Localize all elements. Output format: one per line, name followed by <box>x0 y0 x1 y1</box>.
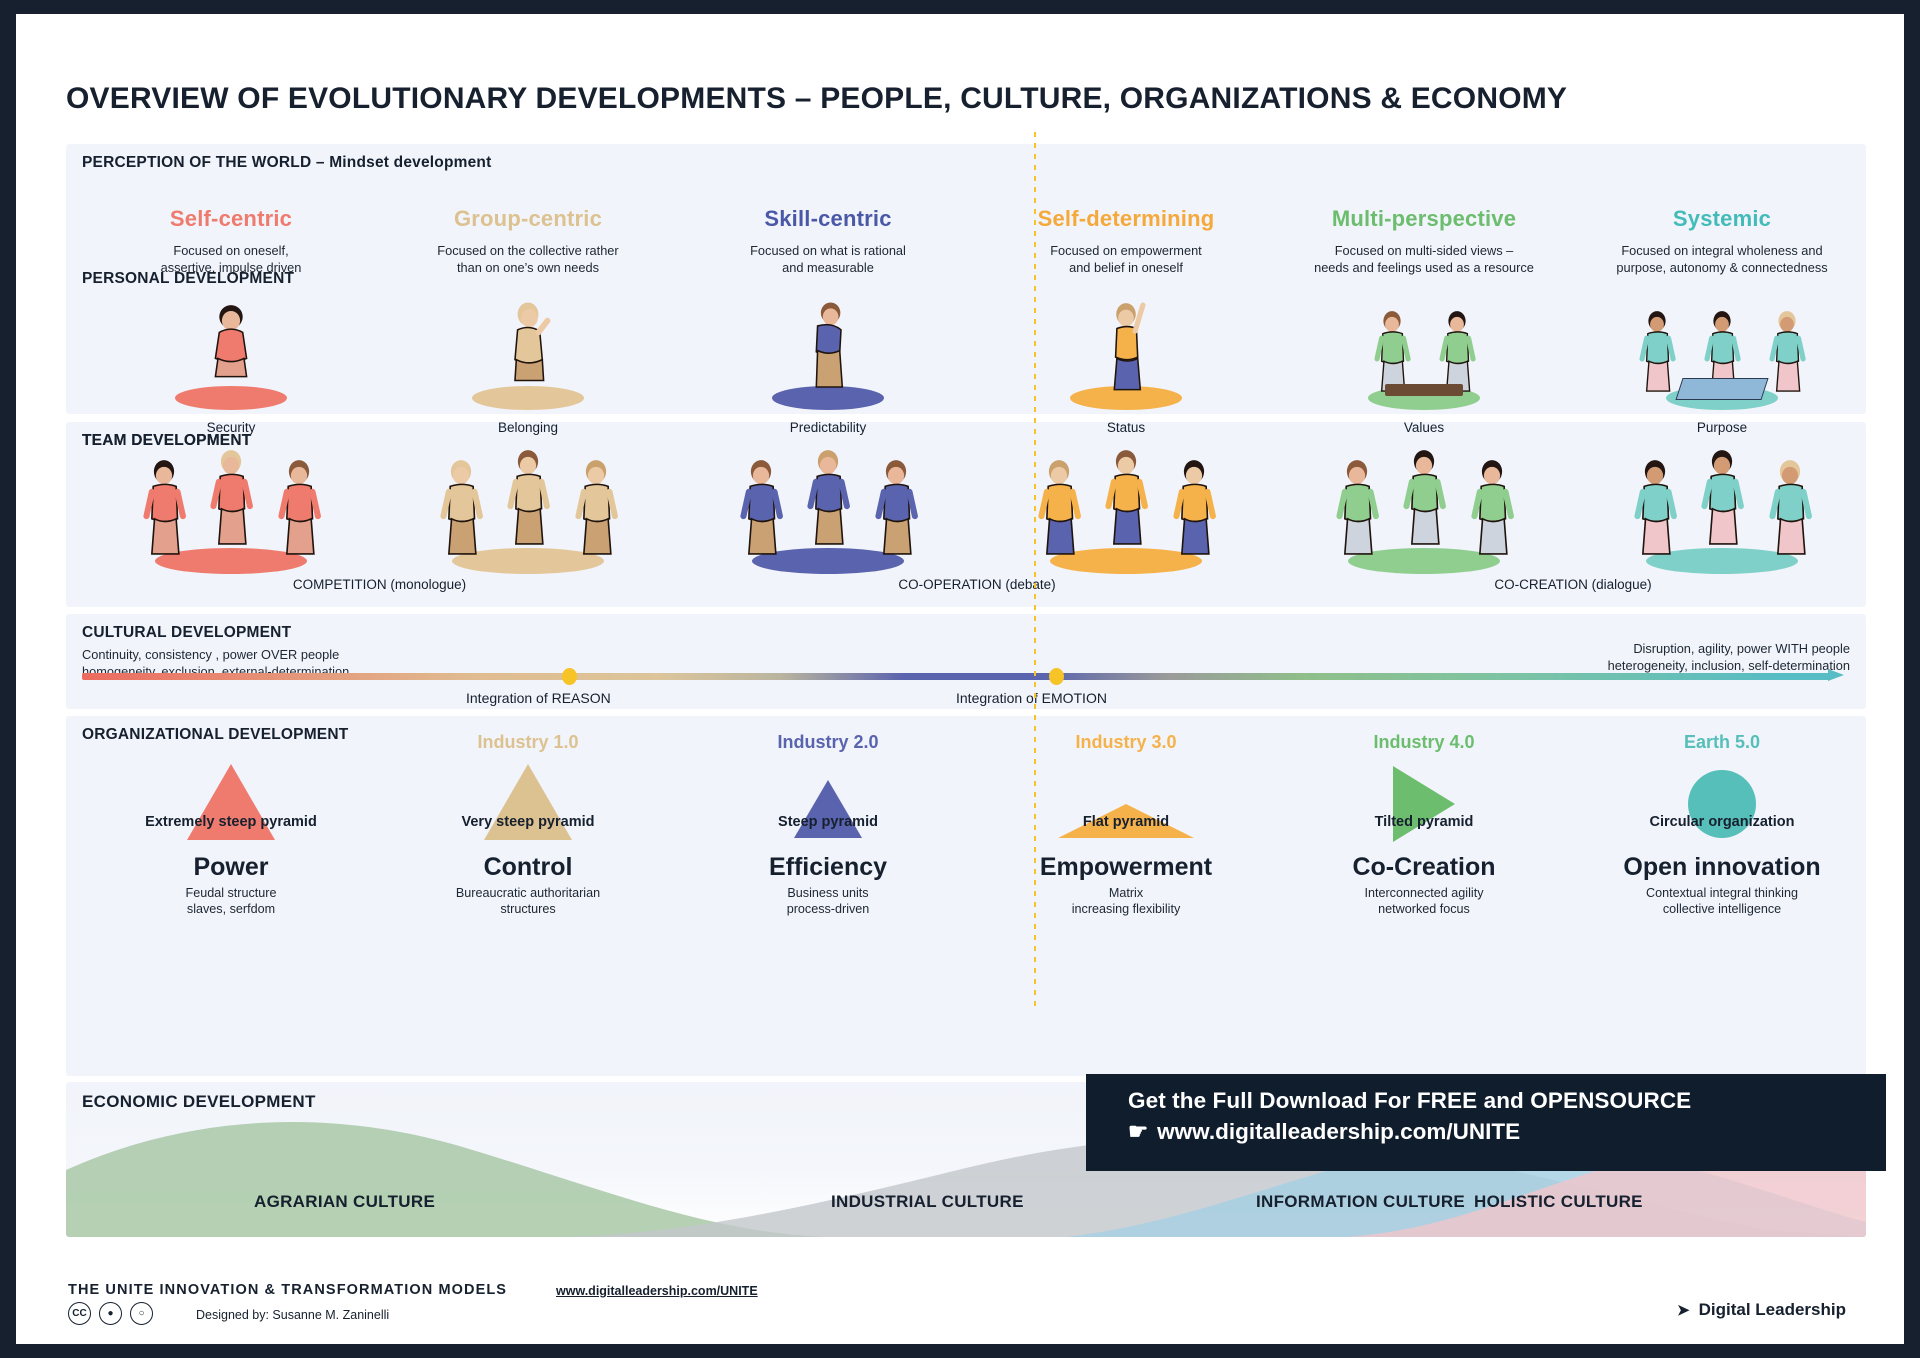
mindset-column-5: SystemicFocused on integral wholeness an… <box>1597 206 1847 277</box>
org-shape-wrapper: Extremely steep pyramid <box>106 762 356 846</box>
org-industry-label: Industry 3.0 <box>1001 732 1251 756</box>
team-cluster-0 <box>106 446 356 574</box>
cc-by-icon: ● <box>99 1302 122 1325</box>
era-divider-dotted-line <box>1034 132 1036 1012</box>
personal-caption: Belonging <box>403 420 653 435</box>
personal-item-2: Predictability <box>703 292 953 435</box>
mindset-column-4: Multi-perspectiveFocused on multi-sided … <box>1299 206 1549 277</box>
personal-figure-scene <box>106 292 356 410</box>
org-shape-wrapper: Circular organization <box>1597 762 1847 846</box>
personal-figure-scene <box>1597 292 1847 410</box>
mindset-title: Skill-centric <box>703 206 953 232</box>
section-label-personal: PERSONAL DEVELOPMENT <box>82 270 294 288</box>
node-integration-of-reason <box>562 668 577 685</box>
personal-caption: Purpose <box>1597 420 1847 435</box>
org-column-4: Industry 4.0Tilted pyramidCo-CreationInt… <box>1299 732 1549 918</box>
mindset-title: Multi-perspective <box>1299 206 1549 232</box>
org-industry-label: Industry 2.0 <box>703 732 953 756</box>
chevron-right-icon: ➤ <box>1677 1301 1690 1319</box>
banner-line-2: ☛www.digitalleadership.com/UNITE <box>1128 1119 1886 1145</box>
org-shape-wrapper: Tilted pyramid <box>1299 762 1549 846</box>
team-figure-scene <box>703 446 953 574</box>
brand-name: Digital Leadership <box>1699 1300 1846 1320</box>
mindset-title: Self-centric <box>106 206 356 232</box>
mindset-title: Group-centric <box>403 206 653 232</box>
org-title: Co-Creation <box>1299 853 1549 882</box>
org-industry-label <box>106 732 356 756</box>
team-figure-scene <box>403 446 653 574</box>
cc-nd-icon: ○ <box>130 1302 153 1325</box>
org-industry-label: Industry 4.0 <box>1299 732 1549 756</box>
org-column-5: Earth 5.0Circular organizationOpen innov… <box>1597 732 1847 918</box>
section-label-economic: ECONOMIC DEVELOPMENT <box>82 1092 316 1112</box>
economic-culture-label-0: AGRARIAN CULTURE <box>254 1192 435 1212</box>
footer-title: THE UNITE INNOVATION & TRANSFORMATION MO… <box>68 1282 507 1298</box>
team-cluster-3 <box>1001 446 1251 574</box>
mindset-title: Self-determining <box>1001 206 1251 232</box>
team-cluster-4 <box>1299 446 1549 574</box>
banner-url: www.digitalleadership.com/UNITE <box>1157 1119 1520 1144</box>
org-shape-label: Extremely steep pyramid <box>106 814 356 830</box>
org-shape-wrapper: Very steep pyramid <box>403 762 653 846</box>
org-title: Empowerment <box>1001 853 1251 882</box>
org-industry-label: Earth 5.0 <box>1597 732 1847 756</box>
org-description: Matrixincreasing flexibility <box>1001 885 1251 918</box>
team-cluster-2 <box>703 446 953 574</box>
economic-culture-label-1: INDUSTRIAL CULTURE <box>831 1192 1024 1212</box>
personal-item-3: Status <box>1001 292 1251 435</box>
org-column-0: Extremely steep pyramidPowerFeudal struc… <box>106 732 356 918</box>
mindset-description: Focused on multi-sided views –needs and … <box>1299 243 1549 277</box>
bench-icon <box>1385 384 1463 396</box>
promo-banner[interactable]: Get the Full Download For FREE and OPENS… <box>1086 1074 1886 1171</box>
section-cultural-development: CULTURAL DEVELOPMENT Continuity, consist… <box>66 614 1866 709</box>
org-title: Power <box>106 853 356 882</box>
mindset-description: Focused on the collective ratherthan on … <box>403 243 653 277</box>
team-figure-scene <box>1001 446 1251 574</box>
org-shape-wrapper: Steep pyramid <box>703 762 953 846</box>
org-shape-label: Tilted pyramid <box>1299 814 1549 830</box>
org-shape-label: Steep pyramid <box>703 814 953 830</box>
personal-figure-scene <box>403 292 653 410</box>
personal-figure-scene <box>1299 292 1549 410</box>
org-shape-label: Very steep pyramid <box>403 814 653 830</box>
cc-icon: CC <box>68 1302 91 1325</box>
label-integration-of-reason: Integration of REASON <box>466 690 611 706</box>
banner-line-1: Get the Full Download For FREE and OPENS… <box>1128 1088 1886 1114</box>
org-title: Efficiency <box>703 853 953 882</box>
org-description: Bureaucratic authoritarianstructures <box>403 885 653 918</box>
solar-panel-icon <box>1675 378 1768 400</box>
mindset-column-1: Group-centricFocused on the collective r… <box>403 206 653 277</box>
mindset-column-3: Self-determiningFocused on empowermentan… <box>1001 206 1251 277</box>
brand-logo: ➤ Digital Leadership <box>1677 1300 1846 1320</box>
org-industry-label: Industry 1.0 <box>403 732 653 756</box>
personal-caption: Values <box>1299 420 1549 435</box>
mindset-description: Focused on integral wholeness andpurpose… <box>1597 243 1847 277</box>
org-title: Open innovation <box>1597 853 1847 882</box>
mindset-title: Systemic <box>1597 206 1847 232</box>
team-group-caption-2: CO-CREATION (dialogue) <box>1373 577 1773 592</box>
economic-culture-label-3: HOLISTIC CULTURE <box>1474 1192 1643 1212</box>
tilted-pyramid-icon <box>1393 766 1455 842</box>
footer-designed-by: Designed by: Susanne M. Zaninelli <box>196 1308 389 1322</box>
org-description: Feudal structureslaves, serfdom <box>106 885 356 918</box>
personal-caption: Predictability <box>703 420 953 435</box>
creative-commons-badges: CC ● ○ <box>68 1302 153 1325</box>
team-figure-scene <box>106 446 356 574</box>
team-group-caption-0: COMPETITION (monologue) <box>180 577 580 592</box>
economic-culture-label-2: INFORMATION CULTURE <box>1256 1192 1465 1212</box>
org-title: Control <box>403 853 653 882</box>
personal-caption: Status <box>1001 420 1251 435</box>
team-cluster-5 <box>1597 446 1847 574</box>
team-figure-scene <box>1299 446 1549 574</box>
personal-figure-scene <box>1001 292 1251 410</box>
infographic-poster: OVERVIEW OF EVOLUTIONARY DEVELOPMENTS – … <box>0 0 1920 1358</box>
pointing-hand-icon: ☛ <box>1128 1119 1148 1145</box>
personal-item-1: Belonging <box>403 292 653 435</box>
mindset-description: Focused on empowermentand belief in ones… <box>1001 243 1251 277</box>
mindset-column-0: Self-centricFocused on oneself,assertive… <box>106 206 356 277</box>
team-cluster-1 <box>403 446 653 574</box>
org-column-3: Industry 3.0Flat pyramidEmpowermentMatri… <box>1001 732 1251 918</box>
mindset-description: Focused on what is rationaland measurabl… <box>703 243 953 277</box>
personal-item-4: Values <box>1299 292 1549 435</box>
footer-url-link[interactable]: www.digitalleadership.com/UNITE <box>556 1284 758 1298</box>
page-title: OVERVIEW OF EVOLUTIONARY DEVELOPMENTS – … <box>66 82 1567 116</box>
label-integration-of-emotion: Integration of EMOTION <box>956 690 1107 706</box>
org-description: Business unitsprocess-driven <box>703 885 953 918</box>
org-description: Contextual integral thinkingcollective i… <box>1597 885 1847 918</box>
personal-figure-scene <box>703 292 953 410</box>
personal-item-0: Security <box>106 292 356 435</box>
team-figure-scene <box>1597 446 1847 574</box>
team-group-caption-1: CO-OPERATION (debate) <box>777 577 1177 592</box>
section-label-cultural: CULTURAL DEVELOPMENT <box>82 624 291 642</box>
org-shape-wrapper: Flat pyramid <box>1001 762 1251 846</box>
org-shape-label: Flat pyramid <box>1001 814 1251 830</box>
personal-item-5: Purpose <box>1597 292 1847 435</box>
cultural-gradient-arrow <box>82 670 1850 682</box>
node-integration-of-emotion <box>1049 668 1064 685</box>
mindset-column-2: Skill-centricFocused on what is rational… <box>703 206 953 277</box>
org-column-1: Industry 1.0Very steep pyramidControlBur… <box>403 732 653 918</box>
org-column-2: Industry 2.0Steep pyramidEfficiencyBusin… <box>703 732 953 918</box>
section-label-perception: PERCEPTION OF THE WORLD – Mindset develo… <box>82 154 491 172</box>
org-description: Interconnected agilitynetworked focus <box>1299 885 1549 918</box>
org-shape-label: Circular organization <box>1597 814 1847 830</box>
